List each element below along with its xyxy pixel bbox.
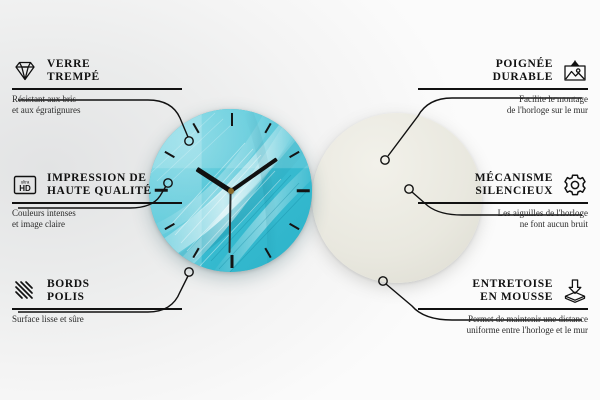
feature-entretoise-en-mousse[interactable]: ENTRETOISE EN MOUSSE Permet de maintenir… xyxy=(418,278,588,336)
feature-poignee-durable[interactable]: POIGNÉE DURABLE Facilite le montage de l… xyxy=(418,58,588,116)
divider xyxy=(418,202,588,204)
feature-description: Permet de maintenir une distance uniform… xyxy=(418,314,588,336)
feature-header: ENTRETOISE EN MOUSSE xyxy=(418,278,588,304)
feature-header: MÉCANISME SILENCIEUX xyxy=(418,172,588,198)
desc-line-1: Couleurs intenses xyxy=(12,208,182,219)
title-line-2: HAUTE QUALITÉ xyxy=(47,185,152,198)
desc-line-2: et aux égratignures xyxy=(12,105,182,116)
desc-line-2: uniforme entre l'horloge et le mur xyxy=(418,325,588,336)
title-line-1: IMPRESSION DE xyxy=(47,172,152,185)
infographic-stage: VERRE TREMPÉ Résistant aux bris et aux é… xyxy=(0,0,600,400)
down-arrow-stack-icon xyxy=(562,278,588,304)
desc-line-2: ne font aucun bruit xyxy=(418,219,588,230)
feature-title: VERRE TREMPÉ xyxy=(47,58,100,84)
title-line-2: POLIS xyxy=(47,291,90,304)
desc-line-2: et image claire xyxy=(12,219,182,230)
title-line-1: POIGNÉE xyxy=(493,58,553,71)
title-line-2: TREMPÉ xyxy=(47,71,100,84)
feature-description: Facilite le montage de l'horloge sur le … xyxy=(418,94,588,116)
title-line-2: SILENCIEUX xyxy=(475,185,553,198)
feature-bords-polis[interactable]: BORDS POLIS Surface lisse et sûre xyxy=(12,278,182,325)
desc-line-1: Facilite le montage xyxy=(418,94,588,105)
divider xyxy=(418,308,588,310)
divider xyxy=(12,308,182,310)
feature-header: BORDS POLIS xyxy=(12,278,182,304)
feature-header: POIGNÉE DURABLE xyxy=(418,58,588,84)
ultra-hd-icon: ultra HD xyxy=(12,172,38,198)
feature-header: VERRE TREMPÉ xyxy=(12,58,182,84)
desc-line-1: Résistant aux bris xyxy=(12,94,182,105)
title-line-2: EN MOUSSE xyxy=(472,291,553,304)
divider xyxy=(418,88,588,90)
feature-description: Couleurs intenses et image claire xyxy=(12,208,182,230)
desc-line-1: Surface lisse et sûre xyxy=(12,314,182,325)
gear-icon xyxy=(562,172,588,198)
feature-title: BORDS POLIS xyxy=(47,278,90,304)
title-line-1: MÉCANISME xyxy=(475,172,553,185)
feature-title: IMPRESSION DE HAUTE QUALITÉ xyxy=(47,172,152,198)
divider xyxy=(12,88,182,90)
desc-line-1: Permet de maintenir une distance xyxy=(418,314,588,325)
feature-title: POIGNÉE DURABLE xyxy=(493,58,553,84)
feature-impression-haute-qualite[interactable]: ultra HD IMPRESSION DE HAUTE QUALITÉ Cou… xyxy=(12,172,182,230)
title-line-1: ENTRETOISE xyxy=(472,278,553,291)
feature-description: Surface lisse et sûre xyxy=(12,314,182,325)
desc-line-1: Les aiguilles de l'horloge xyxy=(418,208,588,219)
diamond-icon xyxy=(12,58,38,84)
feature-description: Les aiguilles de l'horloge ne font aucun… xyxy=(418,208,588,230)
title-line-2: DURABLE xyxy=(493,71,553,84)
feature-description: Résistant aux bris et aux égratignures xyxy=(12,94,182,116)
diagonal-stripes-icon xyxy=(12,278,38,304)
feature-verre-trempe[interactable]: VERRE TREMPÉ Résistant aux bris et aux é… xyxy=(12,58,182,116)
feature-title: ENTRETOISE EN MOUSSE xyxy=(472,278,553,304)
divider xyxy=(12,202,182,204)
feature-title: MÉCANISME SILENCIEUX xyxy=(475,172,553,198)
hanging-picture-frame-icon xyxy=(562,58,588,84)
desc-line-2: de l'horloge sur le mur xyxy=(418,105,588,116)
title-line-1: BORDS xyxy=(47,278,90,291)
svg-text:HD: HD xyxy=(19,184,31,193)
feature-header: ultra HD IMPRESSION DE HAUTE QUALITÉ xyxy=(12,172,182,198)
feature-mecanisme-silencieux[interactable]: MÉCANISME SILENCIEUX Les aiguilles de l'… xyxy=(418,172,588,230)
title-line-1: VERRE xyxy=(47,58,100,71)
